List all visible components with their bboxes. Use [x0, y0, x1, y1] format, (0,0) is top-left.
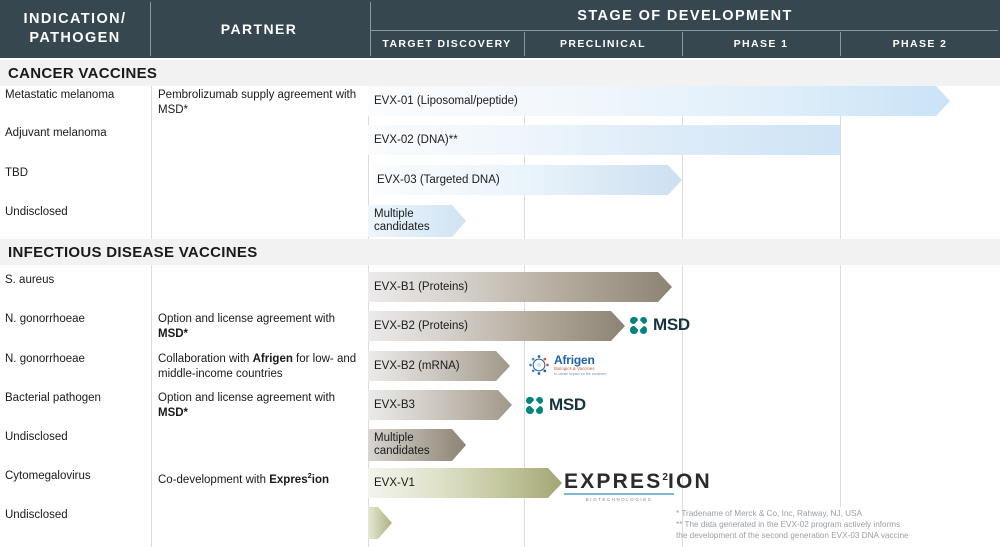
partner-option-license-2-text: Option and license agreement with [158, 392, 335, 404]
bar-evx-b3[interactable]: EVX-B3 [368, 390, 512, 420]
header-partner: PARTNER [152, 2, 366, 56]
indication-n-gonorrhoeae-1: N. gonorrhoeae [5, 312, 149, 326]
expresion-underline [564, 493, 674, 495]
pipeline-chart: INDICATION/ PATHOGEN PARTNER STAGE OF DE… [0, 0, 1000, 547]
afrigen-logo-tagline-2: to create impact on the continent [554, 373, 607, 376]
partner-codev-brand: Expres [269, 474, 307, 486]
bar-label-evx-02: EVX-02 (DNA)** [374, 125, 458, 155]
indication-tbd: TBD [5, 166, 149, 180]
bar-label-evx-b2-proteins: EVX-B2 (Proteins) [374, 311, 468, 341]
header-indication-line1: INDICATION/ PATHOGEN [24, 10, 127, 48]
header-divider-5 [840, 32, 841, 56]
indication-metastatic-melanoma: Metastatic melanoma [5, 88, 149, 102]
header-stage-of-development: STAGE OF DEVELOPMENT [372, 2, 998, 30]
bar-label-multiple-candidates-infectious: Multiple candidates [374, 429, 430, 461]
partner-codev-pre: Co-development with [158, 474, 269, 486]
msd-logo-text: MSD [549, 395, 586, 415]
partner-option-license-2-msd: MSD* [158, 407, 188, 419]
header-indication-pathogen: INDICATION/ PATHOGEN [2, 2, 148, 56]
expresion-part-1: EXPRES [564, 470, 662, 493]
section-title-infectious: INFECTIOUS DISEASE VACCINES [0, 244, 258, 261]
indication-adjuvant-melanoma: Adjuvant melanoma [5, 126, 149, 140]
header-stage-target-discovery: TARGET DISCOVERY [372, 32, 522, 56]
indication-undisclosed-cancer: Undisclosed [5, 205, 149, 219]
column-rule-indication-cancer [151, 86, 152, 239]
bar-evx-b2-mrna[interactable]: EVX-B2 (mRNA) [368, 351, 510, 381]
bar-undisclosed-stub[interactable] [368, 507, 392, 539]
column-rule-phase1-infectious [840, 265, 841, 507]
msd-logo-text: MSD [653, 315, 690, 335]
indication-cytomegalovirus: Cytomegalovirus [5, 469, 149, 483]
bar-label-evx-01: EVX-01 (Liposomal/peptide) [374, 86, 518, 116]
partner-option-license-2: Option and license agreement with MSD* [158, 391, 362, 420]
expresion-logo-text: EXPRES2ION [564, 471, 674, 492]
footnote-1: * Tradename of Merck & Co, Inc, Rahway, … [676, 508, 996, 519]
header-divider-2 [370, 2, 371, 56]
expresion-logo: EXPRES2ION BIOTECHNOLOGIES [564, 471, 674, 502]
partner-codevelopment-expresion: Co-development with Expres2ion [158, 469, 362, 487]
partner-afrigen: Collaboration with Afrigen for low- and … [158, 352, 362, 381]
afrigen-logo-text: Afrigen Biologics & Vaccines to create i… [554, 354, 607, 376]
partner-option-license-1-msd: MSD* [158, 328, 188, 340]
afrigen-logo-tagline-1: Biologics & Vaccines [554, 367, 607, 371]
column-rule-target-discovery-infectious [524, 265, 525, 547]
indication-n-gonorrhoeae-2: N. gonorrhoeae [5, 352, 149, 366]
afrigen-logo-name: Afrigen [554, 354, 607, 366]
partner-codev-post: ion [312, 474, 329, 486]
expresion-part-2: ION [668, 470, 712, 493]
bar-label-evx-b1: EVX-B1 (Proteins) [374, 272, 468, 302]
partner-option-license-1-text: Option and license agreement with [158, 313, 335, 325]
partner-afrigen-name: Afrigen [253, 353, 293, 365]
section-title-cancer: CANCER VACCINES [0, 65, 157, 82]
indication-undisclosed-infectious-1: Undisclosed [5, 430, 149, 444]
afrigen-logo: Afrigen Biologics & Vaccines to create i… [526, 352, 607, 378]
bar-label-multiple-candidates-cancer: Multiple candidates [374, 205, 430, 237]
bar-label-evx-03: EVX-03 (Targeted DNA) [377, 165, 500, 195]
bar-multiple-candidates-infectious[interactable]: Multiple candidates [368, 429, 466, 461]
footnote-2: ** The data generated in the EVX-02 prog… [676, 519, 996, 541]
column-rule-indication-infectious [151, 265, 152, 547]
bar-evx-02[interactable]: EVX-02 (DNA)** [368, 125, 840, 155]
section-header-cancer-vaccines: CANCER VACCINES [0, 60, 1000, 86]
partner-afrigen-pre: Collaboration with [158, 353, 253, 365]
partner-pembrolizumab: Pembrolizumab supply agreement with MSD* [158, 88, 362, 117]
bar-evx-03[interactable]: EVX-03 (Targeted DNA) [371, 165, 682, 195]
afrigen-icon [526, 352, 552, 378]
bar-evx-01[interactable]: EVX-01 (Liposomal/peptide) [368, 86, 950, 116]
partner-option-license-1: Option and license agreement with MSD* [158, 312, 362, 341]
header-sub-divider [370, 30, 998, 31]
indication-undisclosed-infectious-2: Undisclosed [5, 508, 149, 522]
indication-s-aureus: S. aureus [5, 273, 149, 287]
bar-label-evx-b3: EVX-B3 [374, 390, 415, 420]
header-divider-1 [150, 2, 151, 56]
bar-evx-b2-proteins[interactable]: EVX-B2 (Proteins) [368, 311, 625, 341]
bar-label-evx-b2-mrna: EVX-B2 (mRNA) [374, 351, 460, 381]
indication-bacterial-pathogen: Bacterial pathogen [5, 391, 149, 405]
msd-icon [630, 317, 647, 334]
bar-evx-v1[interactable]: EVX-V1 [368, 468, 562, 498]
header-stage-phase-2: PHASE 2 [842, 32, 998, 56]
header-stage-preclinical: PRECLINICAL [526, 32, 680, 56]
msd-logo-row-evx-b3: MSD [526, 395, 586, 415]
header-stage-phase-1: PHASE 1 [684, 32, 838, 56]
bar-multiple-candidates-cancer[interactable]: Multiple candidates [368, 205, 466, 237]
expresion-logo-subtitle: BIOTECHNOLOGIES [564, 497, 674, 502]
header-divider-4 [682, 32, 683, 56]
column-rule-preclinical-infectious [682, 265, 683, 547]
msd-logo-row-evx-b2: MSD [630, 315, 690, 335]
bar-evx-b1[interactable]: EVX-B1 (Proteins) [368, 272, 672, 302]
footnotes: * Tradename of Merck & Co, Inc, Rahway, … [676, 508, 996, 541]
section-header-infectious-disease-vaccines: INFECTIOUS DISEASE VACCINES [0, 239, 1000, 265]
bar-label-evx-v1: EVX-V1 [374, 468, 415, 498]
msd-icon [526, 397, 543, 414]
header-divider-3 [524, 32, 525, 56]
table-header: INDICATION/ PATHOGEN PARTNER STAGE OF DE… [0, 0, 1000, 58]
